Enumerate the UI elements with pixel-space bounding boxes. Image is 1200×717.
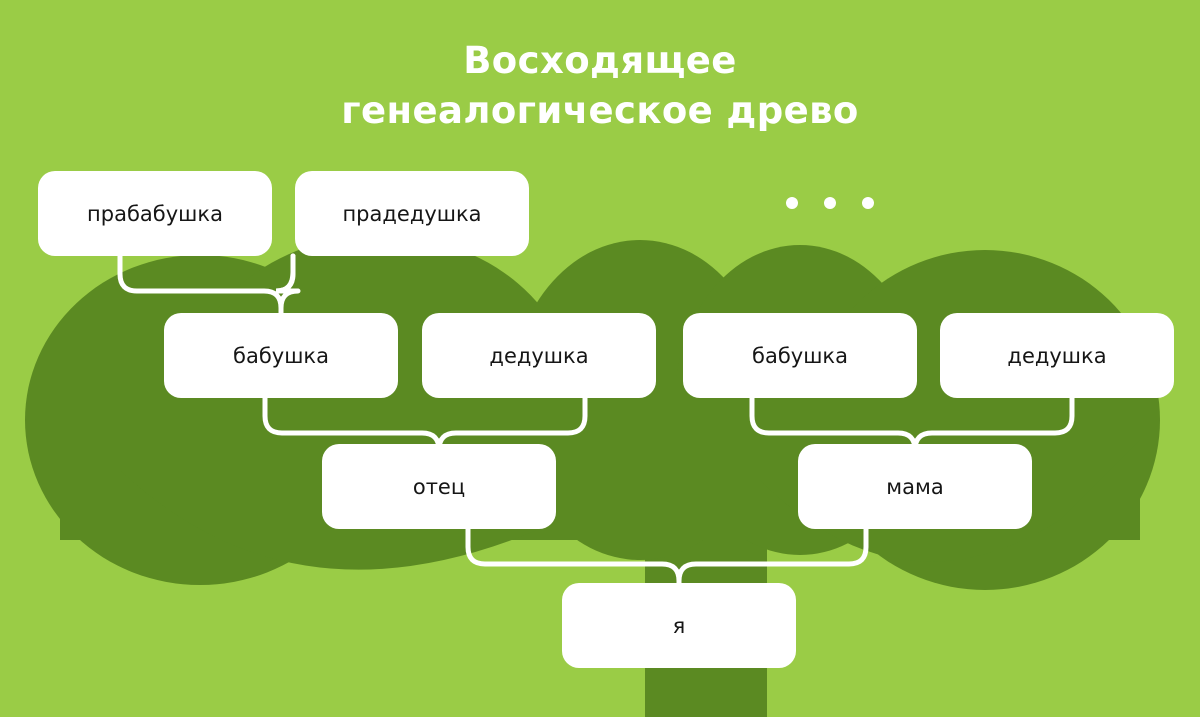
connector-grandmother-to-father [265, 398, 439, 450]
connector-grandfather-maternal-to-mother [915, 398, 1072, 450]
node-label: дедушка [489, 344, 588, 368]
ellipsis-dot-icon [862, 197, 874, 209]
page-title-line-2: генеалогическое древо [0, 86, 1200, 136]
node-card-grandfather-maternal[interactable]: дедушка [940, 313, 1174, 398]
connector-grandmother-maternal-to-mother [752, 398, 915, 450]
node-label: дедушка [1007, 344, 1106, 368]
connector-great-grandfather-stem [276, 256, 298, 291]
ellipsis-dot-icon [786, 197, 798, 209]
node-label: мама [886, 475, 943, 499]
page-title-line-1: Восходящее [0, 36, 1200, 86]
node-label: прабабушка [87, 202, 223, 226]
node-card-great-grandfather[interactable]: прадедушка [295, 171, 529, 256]
page-title: Восходящее генеалогическое древо [0, 36, 1200, 136]
connector-mother-to-self [679, 529, 866, 583]
connector-father-to-self [468, 529, 679, 583]
node-card-great-grandmother[interactable]: прабабушка [38, 171, 272, 256]
more-ancestors-ellipsis [786, 197, 874, 209]
node-label: бабушка [752, 344, 848, 368]
node-label: бабушка [233, 344, 329, 368]
node-card-grandmother-paternal[interactable]: бабушка [164, 313, 398, 398]
node-card-father[interactable]: отец [322, 444, 556, 529]
node-card-grandmother-maternal[interactable]: бабушка [683, 313, 917, 398]
node-label: прадедушка [342, 202, 481, 226]
connector-grandfather-to-father [439, 398, 585, 450]
node-label: я [673, 614, 686, 638]
node-label: отец [413, 475, 465, 499]
ellipsis-dot-icon [824, 197, 836, 209]
node-card-self[interactable]: я [562, 583, 796, 668]
node-card-mother[interactable]: мама [798, 444, 1032, 529]
connector-great-grandmother-to-grandmother [120, 256, 281, 313]
node-card-grandfather-paternal[interactable]: дедушка [422, 313, 656, 398]
genealogy-tree-infographic: Восходящее генеалогическое древо прабабу… [0, 0, 1200, 717]
